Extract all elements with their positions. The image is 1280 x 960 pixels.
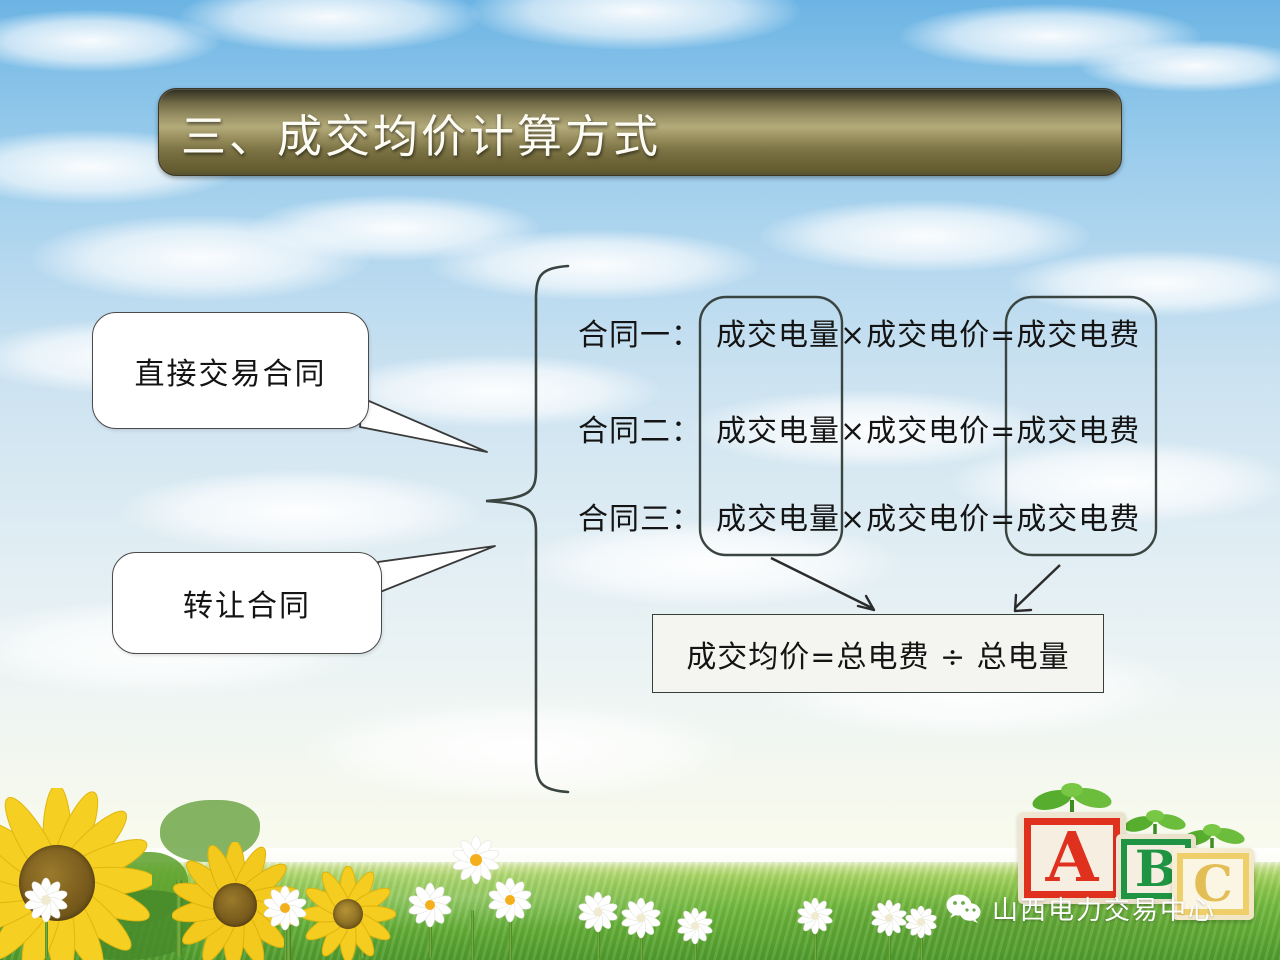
sunflower xyxy=(172,842,298,960)
formula-price: 成交电价 xyxy=(866,414,990,449)
formula-times: × xyxy=(840,318,866,353)
formula-quantity: 成交电量 xyxy=(716,414,840,449)
formula-fee: 成交电费 xyxy=(1016,318,1140,353)
result-formula-text: 成交均价=总电费 ÷ 总电量 xyxy=(686,632,1069,676)
page-title: 三、成交均价计算方式 xyxy=(181,100,661,165)
formula-label: 合同一： xyxy=(578,310,702,354)
formula-times: × xyxy=(840,414,866,449)
formula-price: 成交电价 xyxy=(866,318,990,353)
callout-label: 直接交易合同 xyxy=(135,349,327,393)
formula-row-1: 合同一：成交电量×成交电价=成交电费 xyxy=(578,310,1140,354)
formula-label: 合同三： xyxy=(578,494,702,538)
sunflower xyxy=(300,866,396,960)
formula-row-2: 合同二：成交电量×成交电价=成交电费 xyxy=(578,406,1140,450)
formula-label: 合同二： xyxy=(578,406,702,450)
callout-direct-contract[interactable]: 直接交易合同 xyxy=(92,312,369,429)
formula-quantity: 成交电量 xyxy=(716,318,840,353)
formula-quantity: 成交电量 xyxy=(716,502,840,537)
formula-equals: = xyxy=(990,502,1016,537)
formula-fee: 成交电费 xyxy=(1016,414,1140,449)
formula-times: × xyxy=(840,502,866,537)
formula-fee: 成交电费 xyxy=(1016,502,1140,537)
sunflower xyxy=(0,788,152,960)
slide-title-bar: 三、成交均价计算方式 xyxy=(158,88,1122,176)
formula-row-3: 合同三：成交电量×成交电价=成交电费 xyxy=(578,494,1140,538)
formula-price: 成交电价 xyxy=(866,502,990,537)
slide-canvas: A B C 三、成交均价计算方式 xyxy=(0,0,1280,960)
formula-equals: = xyxy=(990,414,1016,449)
watermark-label: 山西电力交易中心 xyxy=(992,890,1216,927)
watermark: 山西电力交易中心 xyxy=(946,890,1216,927)
wechat-icon xyxy=(946,894,982,924)
result-formula-box: 成交均价=总电费 ÷ 总电量 xyxy=(652,614,1104,693)
callout-transfer-contract[interactable]: 转让合同 xyxy=(112,552,382,654)
callout-label: 转让合同 xyxy=(183,581,311,625)
formula-equals: = xyxy=(990,318,1016,353)
